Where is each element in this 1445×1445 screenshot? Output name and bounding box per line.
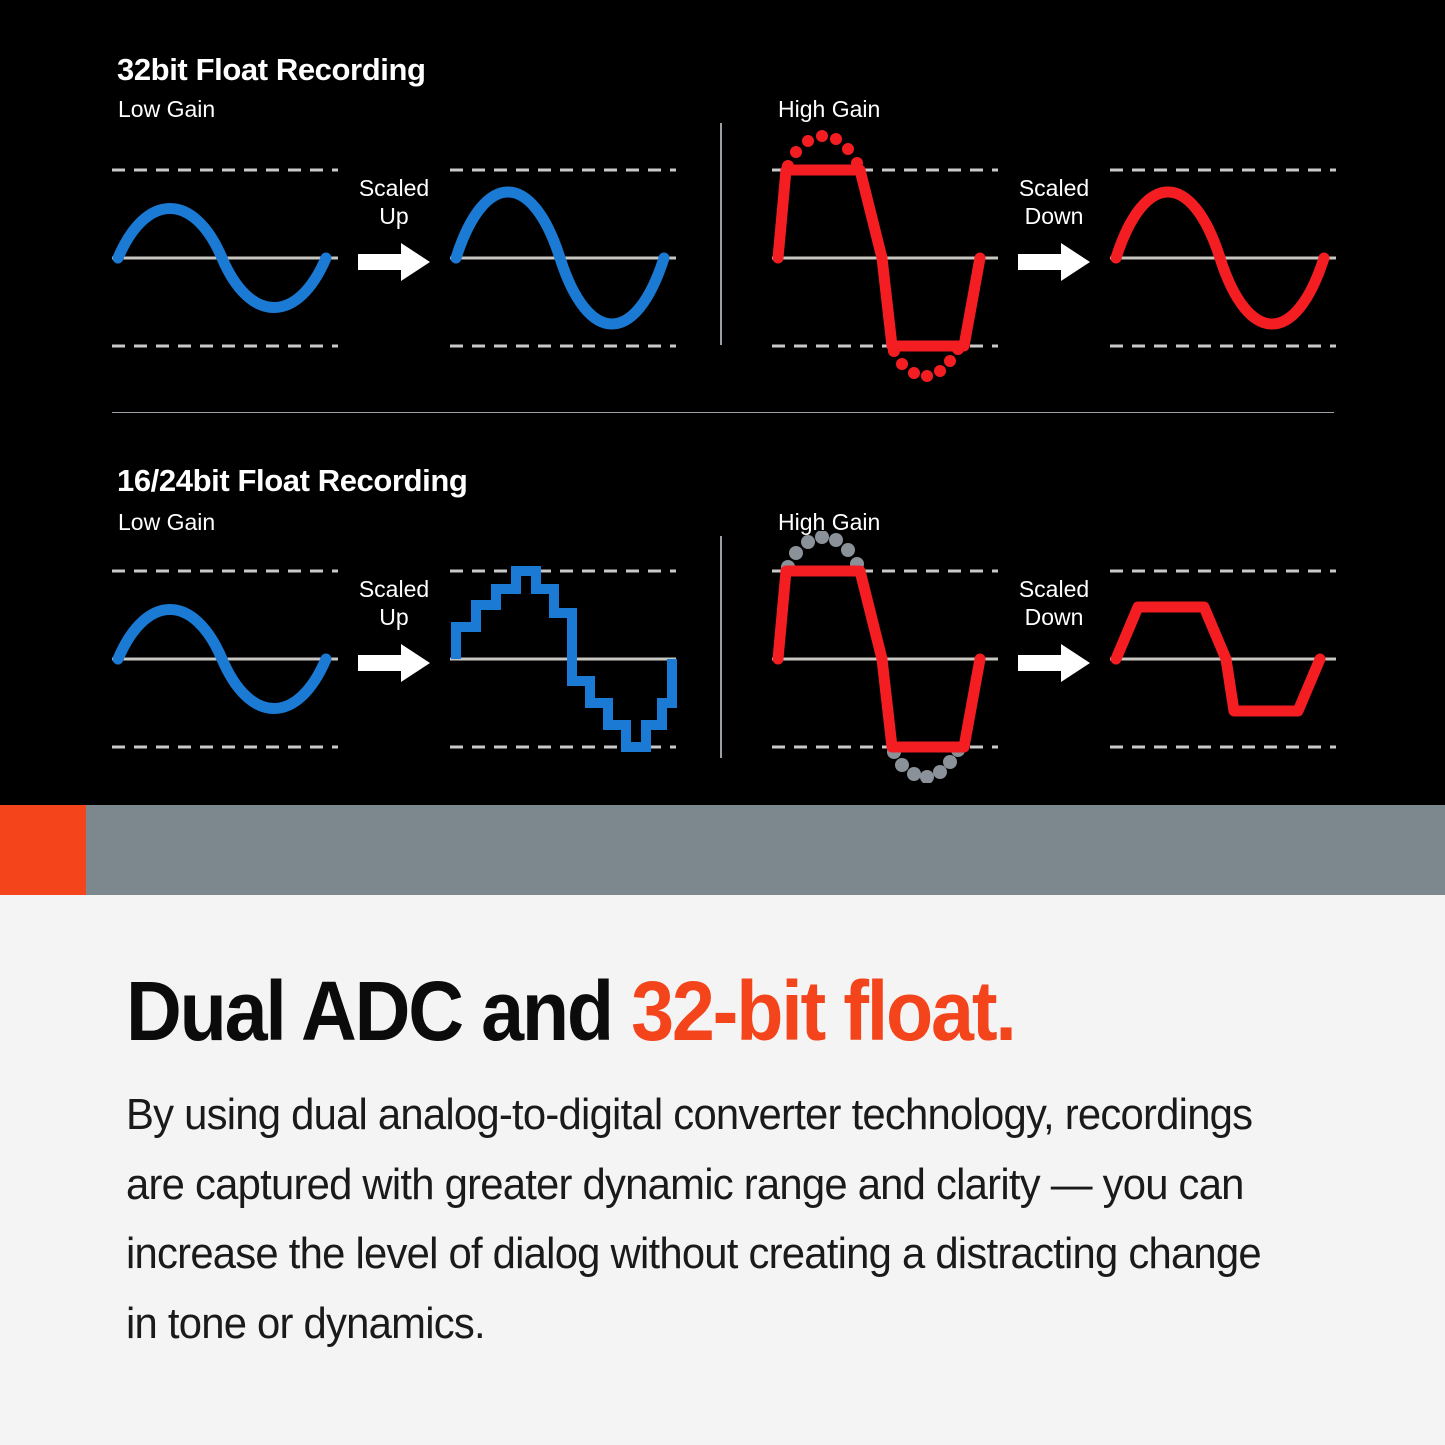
- low-gain-label-row2: Low Gain: [118, 509, 215, 536]
- headline-black-part: Dual ADC and: [126, 964, 631, 1058]
- waveform-high-gain-after-16-24bit: [1108, 553, 1338, 763]
- waveform-low-gain-after-16-24bit: [448, 553, 678, 763]
- accent-band-orange-block: [0, 805, 86, 895]
- waveform-low-gain-after-32bit: [448, 152, 678, 362]
- accent-band-gray-bar: [86, 805, 1445, 895]
- row-32bit: 32bit Float Recording Low Gain High Gain…: [0, 12, 1445, 402]
- row-divider: [112, 412, 1334, 413]
- diagram-panel: 32bit Float Recording Low Gain High Gain…: [0, 0, 1445, 805]
- row-16-24bit: 16/24bit Float Recording Low Gain High G…: [0, 425, 1445, 815]
- waveform-high-gain-before-32bit: [770, 130, 1002, 382]
- high-gain-label-row1: High Gain: [778, 96, 880, 123]
- text-panel: Dual ADC and 32-bit float. By using dual…: [0, 895, 1445, 1445]
- headline-accent-part: 32-bit float.: [631, 964, 1014, 1058]
- body-paragraph: By using dual analog-to-digital converte…: [126, 1080, 1280, 1358]
- low-gain-label-row1: Low Gain: [118, 96, 215, 123]
- waveform-low-gain-before-32bit: [110, 152, 340, 362]
- accent-band: [0, 805, 1445, 895]
- waveform-high-gain-before-16-24bit: [770, 531, 1002, 783]
- waveform-low-gain-before-16-24bit: [110, 553, 340, 763]
- waveform-high-gain-after-32bit: [1108, 152, 1338, 362]
- row-title-32bit: 32bit Float Recording: [117, 52, 426, 88]
- row-title-16-24bit: 16/24bit Float Recording: [117, 463, 467, 499]
- infographic-page: 32bit Float Recording Low Gain High Gain…: [0, 0, 1445, 1445]
- headline: Dual ADC and 32-bit float.: [126, 963, 1015, 1060]
